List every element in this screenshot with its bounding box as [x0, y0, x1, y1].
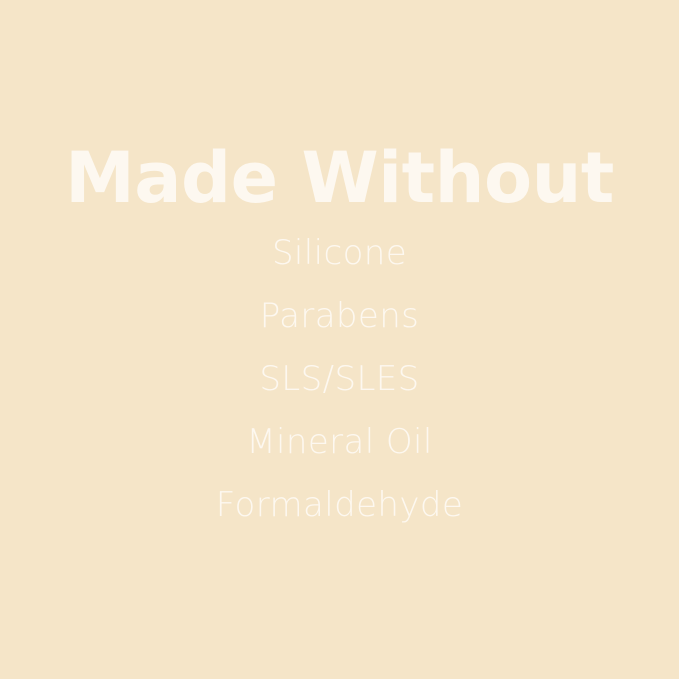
made-without-card: Made Without Silicone Parabens SLS/SLES …	[0, 0, 679, 679]
list-item: Formaldehyde	[0, 474, 679, 537]
page-title: Made Without	[0, 139, 679, 217]
list-item: Parabens	[0, 285, 679, 348]
list-item: Silicone	[0, 222, 679, 285]
list-item: SLS/SLES	[0, 348, 679, 411]
made-without-list: Silicone Parabens SLS/SLES Mineral Oil F…	[0, 222, 679, 537]
list-item: Mineral Oil	[0, 411, 679, 474]
